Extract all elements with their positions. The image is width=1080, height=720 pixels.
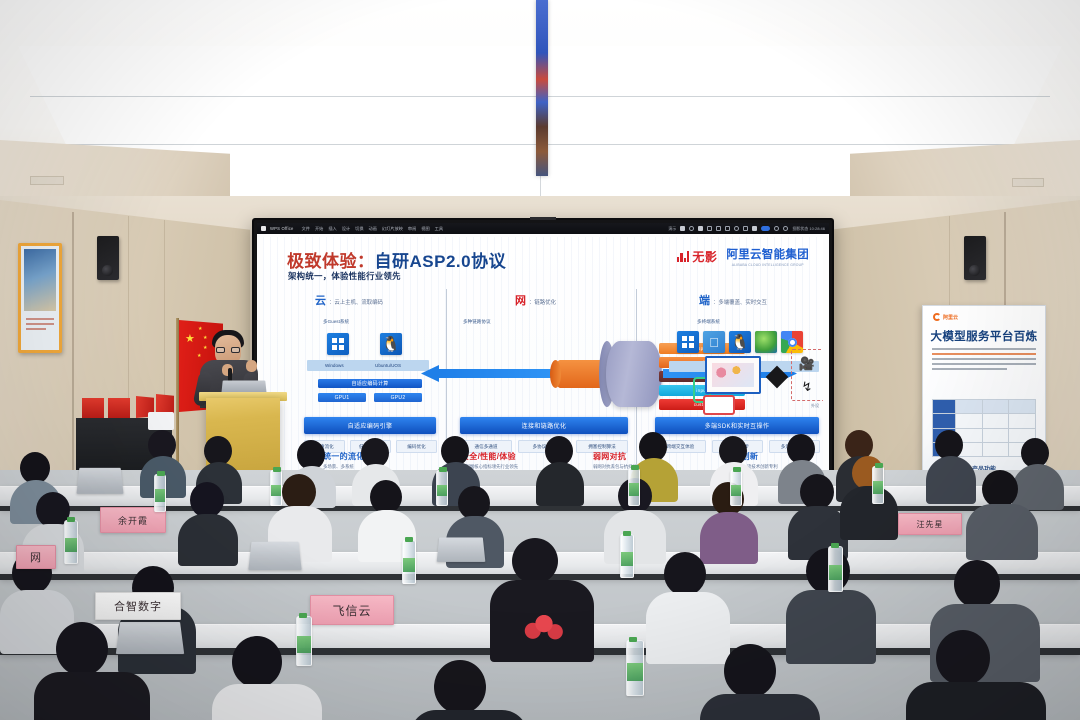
menu-item-view[interactable]: 视图 (421, 226, 429, 232)
laptop (116, 622, 184, 654)
network-cylinder (606, 341, 662, 407)
os-label-ubuntu: Ubuntu/UOS (375, 363, 401, 368)
wps-menu-bar[interactable]: 文件 开始 插入 设计 切换 动画 幻灯片放映 审阅 视图 工具 (302, 226, 443, 232)
slide-title-blue: 自研ASP2.0协议 (375, 252, 507, 271)
menu-item-review[interactable]: 审阅 (408, 226, 416, 232)
water-bottle (402, 540, 416, 584)
column-title-network: 网 ：链路优化 (515, 292, 556, 308)
water-bottle (436, 470, 448, 506)
laptop (248, 542, 301, 570)
pen-icon[interactable] (725, 226, 730, 231)
name-placard: 飞信云 (310, 595, 394, 625)
desk-paper-box (148, 412, 174, 430)
cloud-encoding-bar: 自适应编码计算 (318, 379, 422, 388)
android-icon (755, 331, 777, 353)
eraser-icon[interactable] (743, 226, 748, 231)
cloud-gpu2-bar: GPU2 (374, 393, 422, 402)
windows-icon (677, 331, 699, 353)
water-bottle (154, 474, 166, 512)
camera-icon: 🎥 (796, 354, 818, 374)
highlight-icon[interactable] (734, 226, 739, 231)
water-bottle (64, 520, 78, 564)
water-bottle (730, 470, 742, 506)
name-placard: 合智数字 (95, 592, 181, 620)
flag-pole (176, 318, 179, 468)
water-bottle (628, 468, 640, 506)
windows-icon (327, 333, 349, 355)
wps-document-title: WPS Office (270, 226, 294, 231)
column-title-cloud: 云 ：云上主机、流取编码 (315, 292, 383, 308)
minimize-icon[interactable] (774, 226, 779, 231)
arrow-left (421, 365, 551, 382)
apple-icon:  (703, 331, 725, 353)
wall-poster-inner (21, 246, 59, 350)
pointer-icon[interactable] (716, 226, 721, 231)
terminal-badge: 多终端系统 (697, 319, 720, 325)
terminal-banner: 多端SDK和实时互操作 (655, 417, 819, 434)
laptop (76, 468, 123, 494)
column-desc-terminal: ：多端覆盖、实时交互 (713, 298, 767, 306)
slide-branding: 无影 阿里云智能集团 ALIBABA CLOUD INTELLIGENCE GR… (677, 246, 809, 267)
footer-title-2: 安全/性能/体验 (461, 451, 518, 462)
fullscreen-icon[interactable] (707, 226, 712, 231)
column-desc-network: ：链路优化 (529, 298, 556, 306)
footer-item-1: 统一的流化 多场景、多系统 (323, 451, 365, 470)
monitor-device-icon (705, 356, 761, 394)
os-label-windows: Windows (325, 363, 344, 368)
column-label-cloud: 云 (315, 292, 326, 308)
column-label-network: 网 (515, 292, 526, 308)
rollup-logo: 阿里云 (933, 313, 958, 321)
usb-icon: ↯ (796, 377, 818, 397)
column-title-terminal: 端 ：多端覆盖、实时交互 (699, 292, 767, 308)
water-bottle (270, 470, 282, 506)
name-placard: 网 (16, 545, 56, 569)
menu-item-file[interactable]: 文件 (302, 226, 310, 232)
peripheral-group: 🎥 🖨 ↯ ▣ (791, 349, 823, 401)
wall-speaker-right (964, 236, 986, 280)
wps-toolbar[interactable]: WPS Office 文件 开始 插入 设计 切换 动画 幻灯片放映 审阅 视图… (257, 223, 829, 234)
monitor-icon[interactable] (698, 226, 703, 231)
slide-subtitle: 架构统一，体验性能行业领先 (288, 270, 401, 282)
wps-app-icon[interactable] (261, 226, 266, 231)
brand-alibaba-cloud: 阿里云智能集团 (726, 246, 809, 262)
name-placard: 汪先星 (898, 513, 962, 535)
speaker-glasses (216, 347, 240, 353)
water-bottle (296, 616, 312, 666)
grid-icon[interactable] (680, 226, 685, 231)
hanging-banner (536, 0, 548, 176)
wps-toolbar-right[interactable]: 演示 投影状态 10:28:46 (668, 226, 825, 232)
linux-penguin-icon: 🐧 (729, 331, 751, 353)
cloud-banner: 自适应编码引擎 (304, 417, 436, 434)
laptop (437, 537, 486, 562)
wall-speaker-left (97, 236, 119, 280)
laser-icon[interactable] (752, 226, 757, 231)
wall-poster (18, 243, 62, 353)
wall-poster-text (26, 318, 54, 333)
water-bottle (620, 534, 634, 578)
slide-title-red: 极致体验： (287, 252, 375, 271)
footer-title-1: 统一的流化 (323, 451, 365, 462)
menu-item-transition[interactable]: 切换 (355, 226, 363, 232)
water-bottle (872, 466, 884, 504)
menu-item-animation[interactable]: 动画 (369, 226, 377, 232)
menu-item-insert[interactable]: 插入 (328, 226, 336, 232)
wall-seam (72, 212, 74, 502)
air-vent (1012, 178, 1044, 187)
brand-wuying: 无影 (692, 248, 717, 265)
rollup-title: 大模型服务平台百炼 (923, 328, 1045, 344)
network-banner: 连接和链路优化 (460, 417, 628, 434)
water-bottle (828, 546, 843, 592)
column-desc-cloud: ：云上主机、流取编码 (329, 298, 383, 306)
cloud-gpu1-bar: GPU1 (318, 393, 366, 402)
menu-item-tools[interactable]: 工具 (435, 226, 443, 232)
rollup-paragraph (932, 348, 1036, 373)
cloud-badge: 多Guest系统 (323, 319, 349, 325)
clock-status: 投影状态 10:28:46 (792, 226, 825, 232)
rollup-logo-text: 阿里云 (943, 314, 958, 321)
desk-flag-decor (108, 398, 130, 418)
network-badge: 多种链路协议 (463, 319, 491, 325)
menu-item-home[interactable]: 开始 (315, 226, 323, 232)
desk-flag-decor (82, 398, 104, 418)
presenter-label: 演示 (668, 226, 676, 232)
slide-title: 极致体验：自研ASP2.0协议 (287, 247, 506, 272)
present-toggle[interactable] (761, 226, 770, 231)
column-label-terminal: 端 (699, 292, 710, 308)
menu-item-slideshow[interactable]: 幻灯片放映 (382, 226, 403, 232)
cloud-os-bar: Windows Ubuntu/UOS (307, 360, 429, 371)
gear-icon[interactable] (689, 226, 694, 231)
air-vent (30, 176, 64, 185)
water-bottle (626, 640, 644, 696)
peripheral-label: 外设 (811, 403, 819, 409)
speaker-hand-left (246, 360, 257, 372)
linux-penguin-icon: 🐧 (380, 333, 402, 355)
wuying-logo-icon (677, 251, 689, 262)
brand-alibaba-cloud-sub: ALIBABA CLOUD INTELLIGENCE GROUP (726, 263, 809, 267)
tablet-device-icon (703, 395, 735, 415)
aliyun-logo-icon (933, 313, 941, 321)
conference-room-scene: 阿里云 大模型服务平台百炼 产品功能 WPS Office 文件 开始 插入 (0, 0, 1080, 720)
close-icon[interactable] (783, 226, 788, 231)
menu-item-design[interactable]: 设计 (342, 226, 350, 232)
wall-poster-photo (24, 249, 56, 311)
cloud-mini-3: 编码优化 (396, 440, 437, 453)
